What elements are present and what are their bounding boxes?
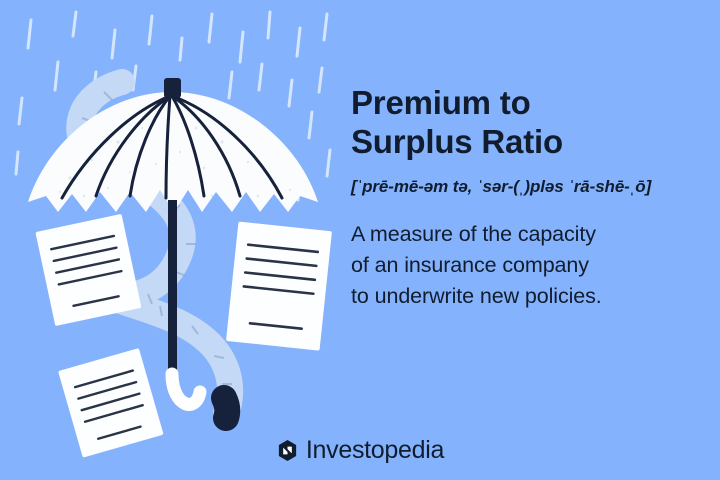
definition-card: Premium to Surplus Ratio [ˈprē-mē-əm tə,… bbox=[0, 0, 720, 480]
investopedia-logo-icon bbox=[276, 439, 299, 462]
umbrella-finial bbox=[164, 78, 181, 98]
document-top-left bbox=[35, 214, 141, 326]
brand-logo: Investopedia bbox=[0, 438, 720, 463]
term-pronunciation: [ˈprē-mē-əm tə, ˈsər-(ˌ)pləs ˈrā-shē-ˌō] bbox=[351, 177, 703, 197]
term-definition: A measure of the capacity of an insuranc… bbox=[351, 219, 703, 312]
brand-name: Investopedia bbox=[306, 438, 444, 463]
umbrella-canopy bbox=[28, 78, 318, 212]
illustration-umbrella-dollar-documents bbox=[0, 0, 340, 480]
term-title: Premium to Surplus Ratio bbox=[351, 84, 703, 161]
document-right bbox=[226, 222, 332, 351]
definition-text-column: Premium to Surplus Ratio [ˈprē-mē-əm tə,… bbox=[351, 84, 703, 312]
